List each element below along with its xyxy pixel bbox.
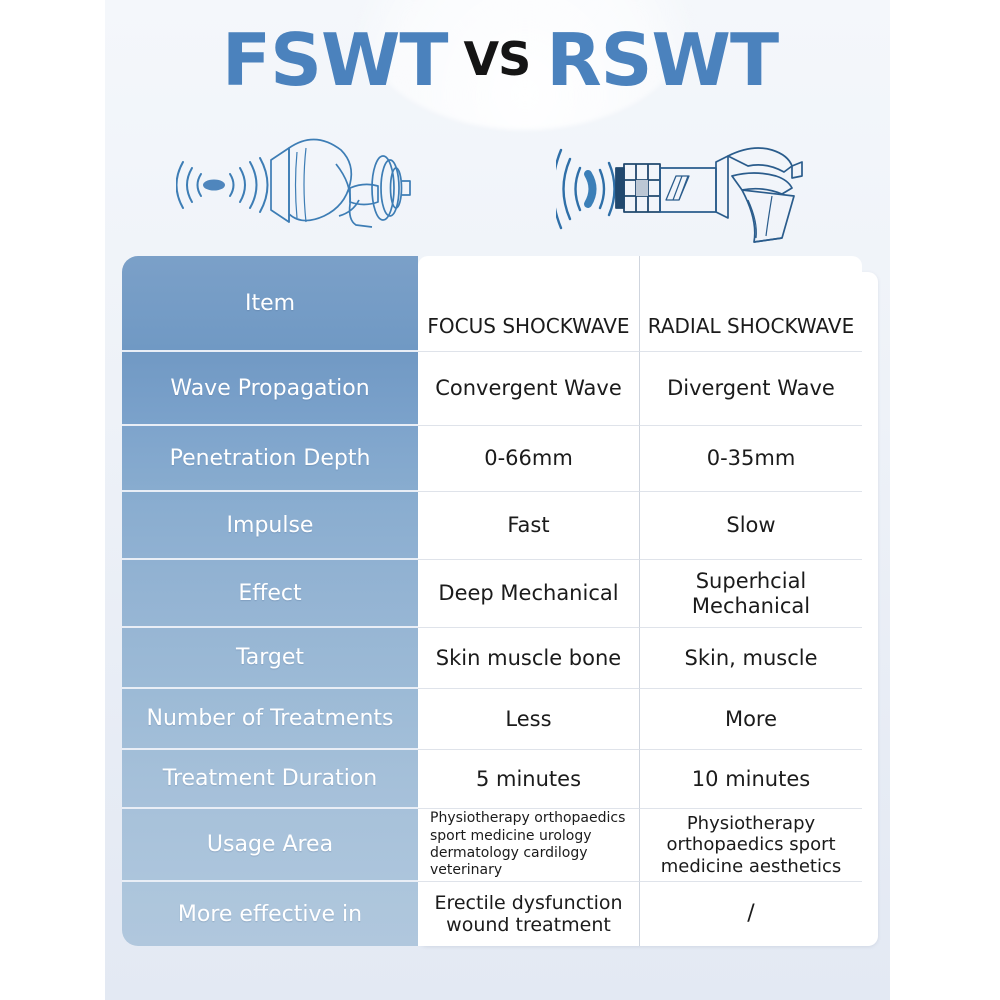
row-value-radial: 10 minutes <box>640 750 862 809</box>
row-value-radial: Divergent Wave <box>640 352 862 426</box>
page-root: FSWTVSRSWT <box>0 0 1000 1000</box>
header-radial-shockwave: RADIAL SHOCKWAVE <box>640 256 862 352</box>
focus-shockwave-illustration <box>176 126 416 244</box>
row-label-impulse: Impulse <box>122 492 418 560</box>
table-row: Usage Area Physiotherapy orthopaedics sp… <box>122 809 878 882</box>
focal-point-icon <box>203 180 225 191</box>
table-row: Number of Treatments Less More <box>122 689 878 750</box>
row-label-effect: Effect <box>122 560 418 628</box>
row-value-radial: Skin, muscle <box>640 628 862 689</box>
row-value-focus: Less <box>418 689 640 750</box>
row-value-radial: 0-35mm <box>640 426 862 492</box>
row-value-focus: 0-66mm <box>418 426 640 492</box>
row-value-radial: / <box>640 882 862 946</box>
row-value-radial: Superhcial Mechanical <box>640 560 862 628</box>
row-value-focus: 5 minutes <box>418 750 640 809</box>
row-label-number-of-treatments: Number of Treatments <box>122 689 418 750</box>
header-focus-shockwave: FOCUS SHOCKWAVE <box>418 256 640 352</box>
title-rswt: RSWT <box>546 18 778 102</box>
row-value-focus: Physiotherapy orthopaedics sport medicin… <box>418 809 640 882</box>
row-value-radial: Slow <box>640 492 862 560</box>
header-item-label: Item <box>122 256 418 352</box>
row-label-treatment-duration: Treatment Duration <box>122 750 418 809</box>
table-row: More effective in Erectile dysfunction w… <box>122 882 878 946</box>
row-value-focus: Deep Mechanical <box>418 560 640 628</box>
row-label-penetration-depth: Penetration Depth <box>122 426 418 492</box>
radial-shockwave-illustration <box>556 126 806 252</box>
row-value-radial: More <box>640 689 862 750</box>
row-value-radial: Physiotherapy orthopaedics sport medicin… <box>640 809 862 882</box>
table-row: Effect Deep Mechanical Superhcial Mechan… <box>122 560 878 628</box>
title-vs: VS <box>464 32 531 86</box>
row-label-target: Target <box>122 628 418 689</box>
table-row: Treatment Duration 5 minutes 10 minutes <box>122 750 878 809</box>
row-label-usage-area: Usage Area <box>122 809 418 882</box>
table-row: Impulse Fast Slow <box>122 492 878 560</box>
table-row: Wave Propagation Convergent Wave Diverge… <box>122 352 878 426</box>
row-label-more-effective-in: More effective in <box>122 882 418 946</box>
row-value-focus: Skin muscle bone <box>418 628 640 689</box>
title-fswt: FSWT <box>222 18 448 102</box>
table-row: Penetration Depth 0-66mm 0-35mm <box>122 426 878 492</box>
comparison-table: Item FOCUS SHOCKWAVE RADIAL SHOCKWAVE Wa… <box>122 256 878 946</box>
row-value-focus: Erectile dysfunction wound treatment <box>418 882 640 946</box>
page-title: FSWTVSRSWT <box>0 24 1000 96</box>
row-value-focus: Fast <box>418 492 640 560</box>
row-label-wave-propagation: Wave Propagation <box>122 352 418 426</box>
table-row: Target Skin muscle bone Skin, muscle <box>122 628 878 689</box>
table-header-row: Item FOCUS SHOCKWAVE RADIAL SHOCKWAVE <box>122 256 878 352</box>
row-value-focus: Convergent Wave <box>418 352 640 426</box>
